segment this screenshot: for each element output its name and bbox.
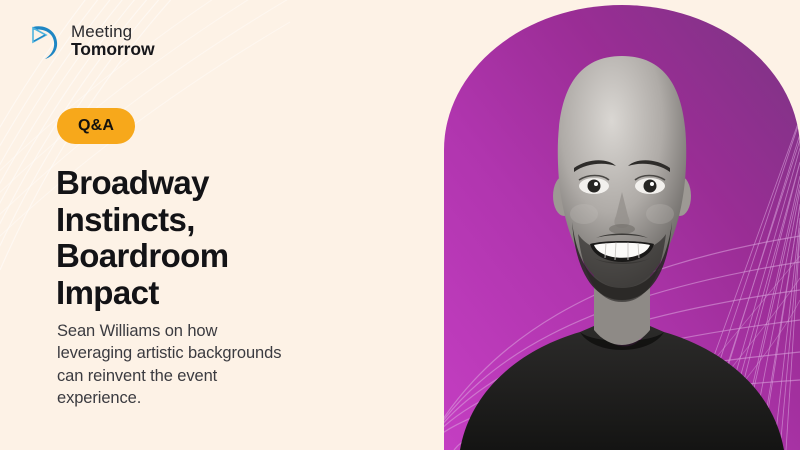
brand-wordmark: Meeting Tomorrow	[71, 23, 154, 58]
portrait-illustration	[444, 0, 800, 450]
qa-badge: Q&A	[57, 108, 135, 144]
page-title: Broadway Instincts, Boardroom Impact	[56, 165, 386, 312]
meeting-tomorrow-swoosh-icon	[29, 22, 63, 60]
subtitle-text: Sean Williams on how leveraging artistic…	[57, 320, 387, 410]
promo-slide: Meeting Tomorrow Q&A Broadway Instincts,…	[0, 0, 800, 450]
brand-name-line-2: Tomorrow	[71, 41, 154, 59]
portrait-arch-panel	[444, 0, 800, 450]
brand-logo[interactable]: Meeting Tomorrow	[29, 22, 154, 60]
